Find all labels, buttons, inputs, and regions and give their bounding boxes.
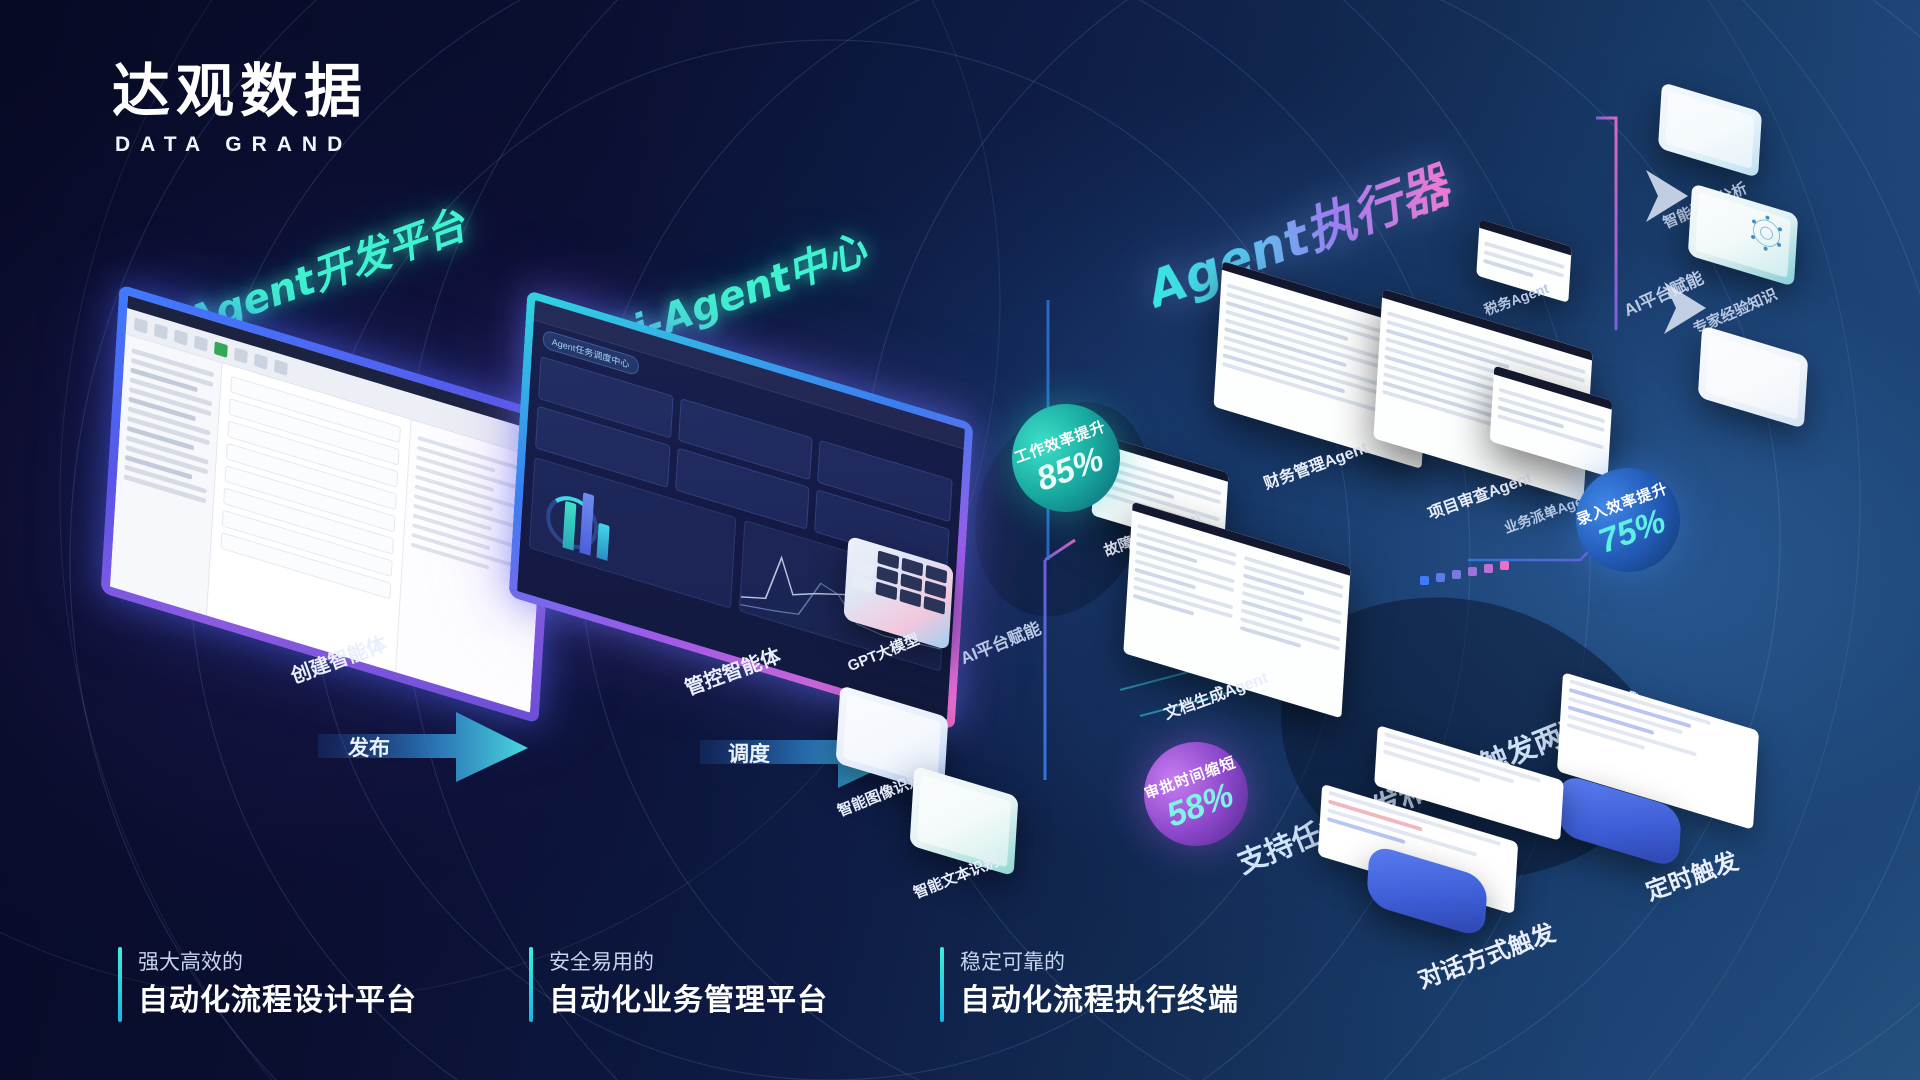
label-ai-platform-left: AI平台赋能 — [957, 618, 1044, 671]
progress-dots — [1420, 558, 1550, 598]
caption-main-2: 自动化业务管理平台 — [549, 979, 828, 1023]
arrow-label-schedule: 调度 — [728, 738, 770, 768]
caption-main-1: 自动化流程设计平台 — [138, 979, 417, 1023]
card-text-recognition — [910, 766, 1019, 877]
label-finance-agent: 财务管理Agent — [1260, 434, 1371, 494]
brand-name-en: DATA GRAND — [115, 133, 368, 157]
card-expert-knowledge — [1688, 183, 1798, 287]
caption-1: 强大高效的 自动化流程设计平台 — [118, 947, 417, 1022]
infographic-canvas: 达观数据 DATA GRAND Agent开发平台 创建智能体 — [0, 0, 1920, 1080]
bottom-captions: 强大高效的 自动化流程设计平台 安全易用的 自动化业务管理平台 稳定可靠的 自动… — [118, 947, 1239, 1022]
brand-logo: 达观数据 DATA GRAND — [112, 62, 368, 157]
caption-accent-bar-3 — [940, 947, 944, 1022]
caption-accent-bar-1 — [118, 947, 122, 1022]
arrow-label-publish: 发布 — [348, 732, 390, 762]
caption-main-3: 自动化流程执行终端 — [960, 979, 1239, 1023]
brand-name-cn: 达观数据 — [112, 62, 368, 120]
caption-sub-2: 安全易用的 — [549, 947, 828, 979]
caption-sub-3: 稳定可靠的 — [960, 947, 1239, 979]
caption-2: 安全易用的 自动化业务管理平台 — [529, 947, 828, 1022]
card-data-table — [1698, 325, 1808, 429]
caption-accent-bar-2 — [529, 947, 533, 1022]
label-chat-trigger: 对话方式触发 — [1412, 913, 1559, 995]
caption-sub-1: 强大高效的 — [138, 947, 417, 979]
label-ai-platform-right: AI平台赋能 — [1621, 267, 1708, 323]
card-semantic-analysis — [1658, 82, 1762, 178]
caption-3: 稳定可靠的 自动化流程执行终端 — [940, 947, 1239, 1022]
